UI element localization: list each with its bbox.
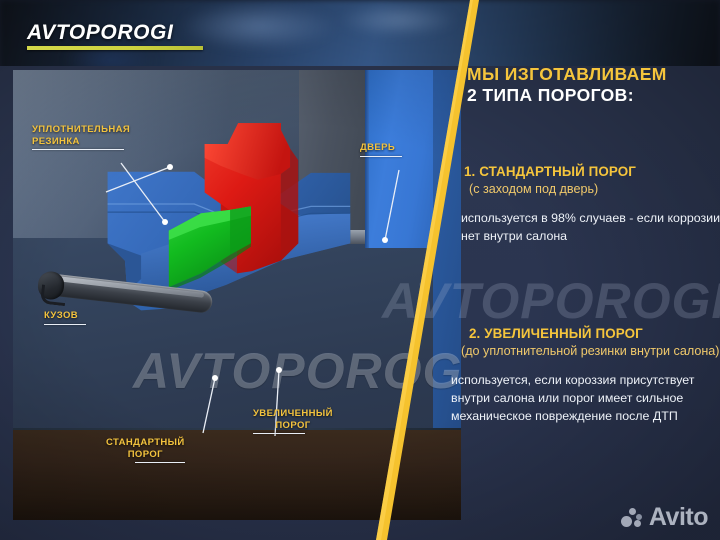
infographic-canvas: AVTOPOROGI	[0, 0, 720, 540]
callout-seal-label: УПЛОТНИТЕЛЬНАЯ РЕЗИНКА	[32, 124, 130, 147]
callout-door-label: ДВЕРЬ	[360, 142, 402, 154]
avito-watermark: Avito	[621, 505, 708, 530]
sill-diagram: AVTOPOROGI УПЛОТНИТЕЛЬНАЯ РЕЗИНКА	[13, 70, 461, 520]
callout-standard-sill-label: СТАНДАРТНЫЙ ПОРОГ	[106, 437, 185, 460]
section-standard-title: 1. СТАНДАРТНЫЙ ПОРОГ	[451, 163, 720, 180]
section-standard: 1. СТАНДАРТНЫЙ ПОРОГ (с заходом под двер…	[451, 163, 720, 245]
callout-door: ДВЕРЬ	[360, 142, 402, 157]
brand-logo-underline	[27, 46, 203, 50]
callout-extended-sill: УВЕЛИЧЕННЫЙ ПОРОГ	[253, 408, 333, 434]
header-line-1: МЫ ИЗГОТАВЛИВАЕМ	[467, 64, 717, 85]
callout-standard-sill: СТАНДАРТНЫЙ ПОРОГ	[106, 437, 185, 463]
brand-logo: AVTOPOROGI	[27, 22, 203, 50]
section-extended: 2. УВЕЛИЧЕННЫЙ ПОРОГ (до уплотнительной …	[451, 325, 720, 425]
callout-seal-rule	[32, 149, 124, 150]
callout-extended-sill-label: УВЕЛИЧЕННЫЙ ПОРОГ	[253, 408, 333, 431]
center-watermark-left: AVTOPOROGI	[133, 342, 461, 400]
callout-standard-sill-rule	[135, 462, 185, 463]
section-standard-body: используется в 98% случаев - если корроз…	[451, 209, 720, 245]
avito-wordmark: Avito	[649, 505, 708, 530]
section-extended-body: используется, если короззия присутствует…	[451, 371, 720, 425]
callout-body-rule	[44, 324, 86, 325]
callout-body-label: КУЗОВ	[44, 310, 86, 322]
header-line-2: 2 ТИПА ПОРОГОВ:	[467, 85, 717, 106]
brand-logo-text: AVTOPOROGI	[27, 22, 203, 43]
section-extended-title: 2. УВЕЛИЧЕННЫЙ ПОРОГ	[451, 325, 720, 342]
ground-surface	[13, 430, 461, 520]
callout-body: КУЗОВ	[44, 310, 86, 325]
avito-logo-icon	[621, 508, 644, 528]
section-extended-subtitle: (до уплотнительной резинки внутри салона…	[451, 343, 720, 360]
callout-seal: УПЛОТНИТЕЛЬНАЯ РЕЗИНКА	[32, 124, 130, 150]
callout-extended-sill-rule	[253, 433, 305, 434]
section-standard-subtitle: (с заходом под дверь)	[451, 181, 720, 198]
text-column: МЫ ИЗГОТАВЛИВАЕМ 2 ТИПА ПОРОГОВ: 1. СТАН…	[440, 0, 720, 540]
header-block: МЫ ИЗГОТАВЛИВАЕМ 2 ТИПА ПОРОГОВ:	[467, 64, 717, 106]
callout-door-rule	[360, 156, 402, 157]
